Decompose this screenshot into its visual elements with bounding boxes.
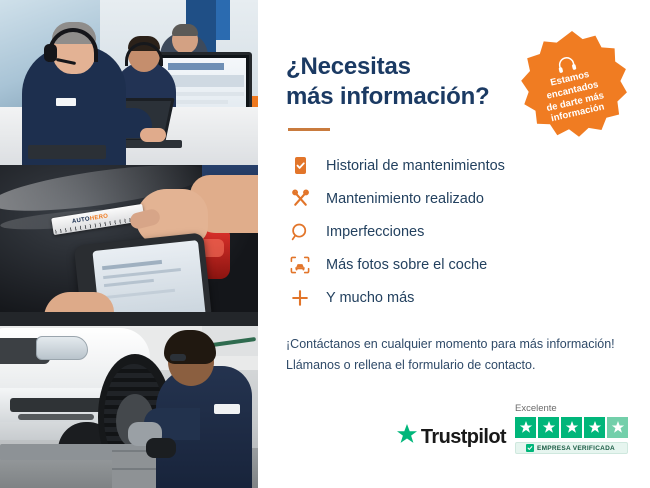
contact-text: ¡Contáctanos en cualquier momento para m… bbox=[286, 334, 650, 375]
verified-label: EMPRESA VERIFICADA bbox=[537, 445, 615, 452]
promo-badge: Estamos encantados de darte más informac… bbox=[514, 30, 630, 146]
photo-column: AUTOHERO bbox=[0, 0, 258, 488]
feature-label: Historial de mantenimientos bbox=[326, 158, 505, 174]
car-headlight bbox=[36, 336, 88, 360]
feature-item-maintenance-history: Historial de mantenimientos bbox=[286, 149, 650, 182]
feature-item-imperfections: Imperfecciones bbox=[286, 215, 650, 248]
tablet-row bbox=[105, 289, 175, 299]
content-panel: ¿Necesitas más información? Historial de… bbox=[258, 0, 650, 488]
name-badge bbox=[56, 98, 76, 106]
feature-list: Historial de mantenimientos Mantenimient… bbox=[286, 149, 650, 314]
trustpilot-rating[interactable]: Trustpilot Excelente bbox=[396, 403, 628, 454]
uniform-logo bbox=[214, 404, 240, 414]
feature-label: Imperfecciones bbox=[326, 224, 424, 240]
plus-icon bbox=[286, 289, 314, 307]
trustpilot-score: Excelente bbox=[515, 403, 628, 454]
star-filled bbox=[515, 417, 536, 438]
trustpilot-star-icon bbox=[396, 424, 418, 450]
magnifier-icon bbox=[286, 223, 314, 241]
page-title-line2: más información? bbox=[286, 83, 490, 110]
tablet-row bbox=[102, 260, 162, 270]
contact-line-1: ¡Contáctanos en cualquier momento para m… bbox=[286, 337, 615, 351]
starburst-shape bbox=[514, 30, 630, 146]
mechanic-wheel-photo bbox=[0, 326, 258, 488]
star-rating bbox=[515, 417, 628, 438]
tablet-row bbox=[104, 279, 154, 287]
feature-item-more-photos: Más fotos sobre el coche bbox=[286, 248, 650, 281]
page-title-line1: ¿Necesitas bbox=[286, 53, 411, 80]
trustpilot-logo: Trustpilot bbox=[396, 424, 506, 454]
trustpilot-wordmark: Trustpilot bbox=[421, 426, 506, 449]
star-filled bbox=[538, 417, 559, 438]
agent-hand bbox=[140, 128, 166, 142]
screen-row bbox=[168, 92, 244, 96]
contact-line-2: Llámanos o rellena el formulario de cont… bbox=[286, 358, 535, 372]
document-check-icon bbox=[286, 156, 314, 175]
floor-strip bbox=[0, 312, 258, 326]
feature-item-maintenance-done: Mantenimiento realizado bbox=[286, 182, 650, 215]
verified-badge: EMPRESA VERIFICADA bbox=[515, 442, 628, 454]
car-inspection-ruler-photo: AUTOHERO bbox=[0, 165, 258, 326]
feature-label: Más fotos sobre el coche bbox=[326, 257, 487, 273]
title-divider bbox=[288, 128, 330, 131]
safety-glasses-icon bbox=[170, 354, 186, 361]
bumper-vent-2 bbox=[18, 414, 94, 420]
tools-icon bbox=[286, 189, 314, 208]
car-photo-icon bbox=[286, 256, 314, 274]
call-center-agents-photo bbox=[0, 0, 258, 165]
blue-panel-secondary bbox=[216, 0, 230, 40]
screen-row bbox=[168, 75, 244, 87]
star-filled bbox=[561, 417, 582, 438]
agent-background-hair bbox=[172, 24, 198, 36]
feature-label: Y mucho más bbox=[326, 290, 414, 306]
info-request-banner: AUTOHERO bbox=[0, 0, 650, 488]
screen-header-bar bbox=[168, 63, 224, 70]
bumper-vent bbox=[10, 398, 106, 412]
tablet-row bbox=[103, 268, 181, 279]
rating-label: Excelente bbox=[515, 403, 557, 414]
keyboard bbox=[28, 145, 106, 159]
check-icon bbox=[526, 444, 534, 452]
mechanic-glove-2 bbox=[146, 438, 176, 458]
star-filled bbox=[584, 417, 605, 438]
star-partial bbox=[607, 417, 628, 438]
screen-row bbox=[168, 100, 228, 104]
feature-label: Mantenimiento realizado bbox=[326, 191, 484, 207]
feature-item-much-more: Y mucho más bbox=[286, 281, 650, 314]
